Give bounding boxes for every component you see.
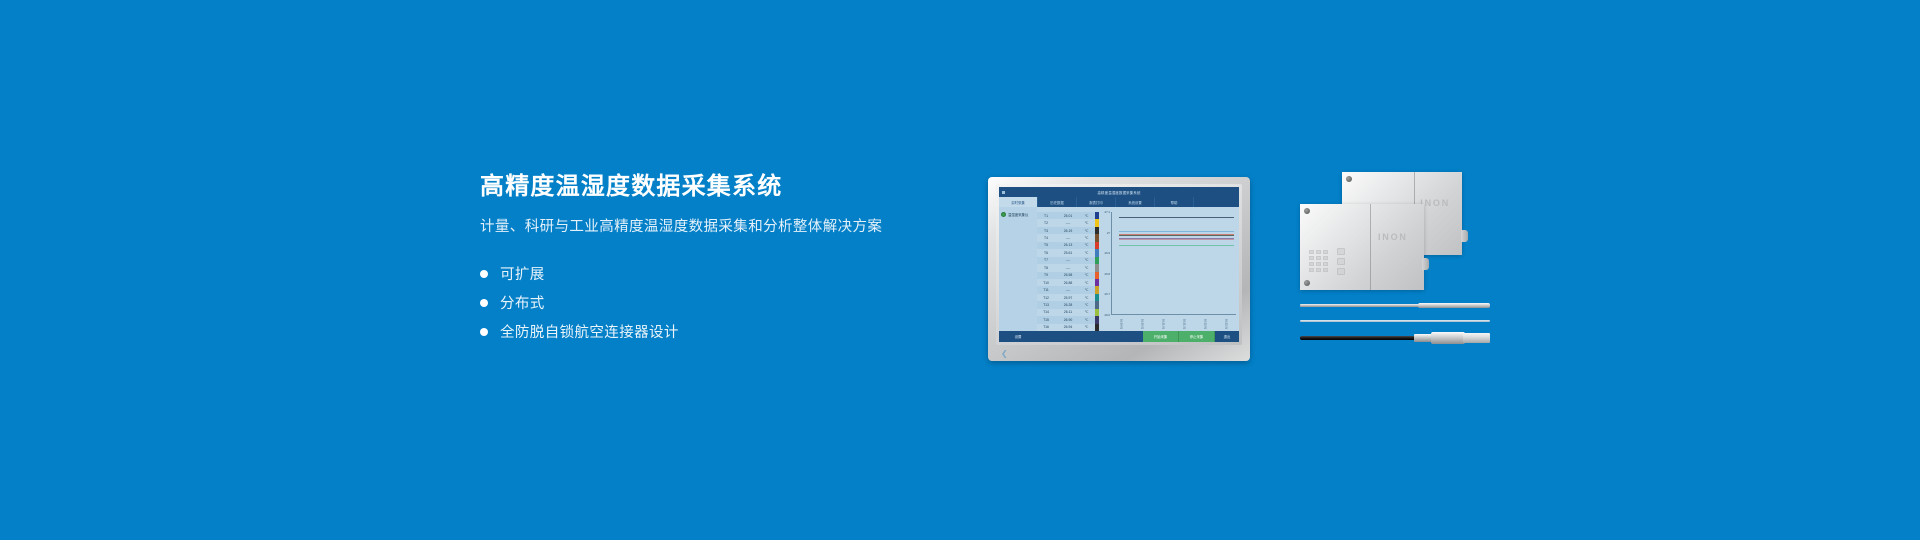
channel-table: T125.01℃T2----℃T326.19℃T4----℃T526.13℃T6… (1037, 207, 1095, 331)
channel-unit: ℃ (1081, 303, 1092, 307)
channel-name: T10 (1037, 281, 1055, 285)
chart-y-tick: 26.7 (1105, 292, 1110, 296)
channel-name: T13 (1037, 303, 1055, 307)
channel-name: T7 (1037, 258, 1055, 262)
app-bottombar: 设置 开始采集 停止采集 退出 (999, 331, 1239, 342)
channel-unit: ℃ (1081, 236, 1092, 240)
channel-value: 26.13 (1055, 243, 1081, 247)
table-row[interactable]: T1526.90℃ (1037, 316, 1095, 323)
channel-value: 26.19 (1055, 229, 1081, 233)
channel-name: T2 (1037, 221, 1055, 225)
channel-name: T6 (1037, 251, 1055, 255)
channel-value: 26.28 (1055, 303, 1081, 307)
list-item: 分布式 (480, 288, 950, 317)
channel-name: T9 (1037, 273, 1055, 277)
page-title: 高精度温湿度数据采集系统 (480, 172, 950, 202)
chart-series-line (1119, 245, 1233, 246)
table-row[interactable]: T2----℃ (1037, 219, 1095, 226)
channel-value: 25.61 (1055, 251, 1081, 255)
brand-logo: INON (1420, 198, 1450, 208)
channel-unit: ℃ (1081, 214, 1092, 218)
chart-x-tick: 16:21:01 (1162, 319, 1165, 329)
table-row[interactable]: T1426.11℃ (1037, 309, 1095, 316)
channel-unit: ℃ (1081, 325, 1092, 329)
channel-value: 26.90 (1055, 318, 1081, 322)
channel-value: 25.97 (1055, 296, 1081, 300)
table-row[interactable]: T4----℃ (1037, 234, 1095, 241)
channel-name: T4 (1037, 236, 1055, 240)
trend-chart: 27.12726.926.826.726.6 16:20:0116:20:311… (1099, 207, 1239, 331)
monitor-outer-bezel: 高精度温湿度数据采集系统 实时采集 历史数据 报表打印 系统设置 帮助 (988, 177, 1250, 361)
channel-name: T1 (1037, 214, 1055, 218)
bullet-dot-icon (480, 328, 488, 336)
app-body: 温湿度采集仪 T125.01℃T2----℃T326.19℃T4----℃T52… (999, 207, 1239, 331)
probe-thin-rod (1300, 320, 1490, 322)
chart-x-tick: 16:20:31 (1141, 319, 1144, 329)
table-row[interactable]: T8----℃ (1037, 264, 1095, 271)
hero-copy-block: 高精度温湿度数据采集系统 计量、科研与工业高精度温湿度数据采集和分析整体解决方案… (480, 172, 950, 346)
channel-unit: ℃ (1081, 273, 1092, 277)
sidebar-item-device[interactable]: 温湿度采集仪 (1001, 212, 1035, 217)
channel-value: 26.58 (1055, 273, 1081, 277)
chart-series-line (1119, 217, 1233, 218)
chart-y-tick: 27 (1107, 231, 1110, 235)
monitor-stand-icon: ❮ (1001, 350, 1011, 357)
list-item: 可扩展 (480, 259, 950, 288)
channel-unit: ℃ (1081, 318, 1092, 322)
probe-shaft (1300, 304, 1420, 306)
channel-name: T14 (1037, 310, 1055, 314)
chart-x-tick: 16:21:31 (1183, 319, 1186, 329)
feature-label: 可扩展 (500, 263, 545, 284)
chart-series-line (1119, 239, 1233, 240)
channel-unit: ℃ (1081, 221, 1092, 225)
channel-value: ---- (1055, 236, 1081, 240)
panel-seam (1370, 204, 1371, 290)
tab-report[interactable]: 报表打印 (1077, 197, 1116, 207)
channel-unit: ℃ (1081, 229, 1092, 233)
chart-x-tick: 16:20:01 (1120, 319, 1123, 329)
probe-ferrule (1414, 334, 1432, 342)
channel-value: 26.11 (1055, 310, 1081, 314)
monitor-inner-bezel: 高精度温湿度数据采集系统 实时采集 历史数据 报表打印 系统设置 帮助 (996, 184, 1242, 345)
probe-connector-head (1463, 333, 1490, 343)
start-acquisition-button[interactable]: 开始采集 (1143, 331, 1179, 342)
channel-unit: ℃ (1081, 243, 1092, 247)
stop-acquisition-button[interactable]: 停止采集 (1179, 331, 1215, 342)
device-label: 温湿度采集仪 (1008, 212, 1028, 217)
table-row[interactable]: T926.58℃ (1037, 272, 1095, 279)
feature-list: 可扩展 分布式 全防脱自锁航空连接器设计 (480, 259, 950, 346)
channel-name: T12 (1037, 296, 1055, 300)
table-row[interactable]: T526.13℃ (1037, 242, 1095, 249)
tab-history[interactable]: 历史数据 (1038, 197, 1077, 207)
app-window-title: 高精度温湿度数据采集系统 (999, 190, 1239, 195)
channel-value: 26.94 (1055, 325, 1081, 329)
device-online-icon (1001, 212, 1006, 217)
chart-series-line (1119, 231, 1233, 232)
channel-name: T16 (1037, 325, 1055, 329)
tab-help[interactable]: 帮助 (1155, 197, 1194, 207)
chart-y-tick: 26.6 (1105, 313, 1110, 317)
settings-button[interactable]: 设置 (999, 331, 1037, 342)
app-tabbar: 实时采集 历史数据 报表打印 系统设置 帮助 (999, 197, 1239, 207)
channel-name: T3 (1037, 229, 1055, 233)
table-row[interactable]: T11----℃ (1037, 286, 1095, 293)
channel-value: ---- (1055, 266, 1081, 270)
feature-label: 全防脱自锁航空连接器设计 (500, 321, 679, 342)
channel-unit: ℃ (1081, 266, 1092, 270)
channel-name: T11 (1037, 288, 1055, 292)
channel-unit: ℃ (1081, 258, 1092, 262)
exit-button[interactable]: 退出 (1215, 331, 1239, 342)
channel-value: 25.01 (1055, 214, 1081, 218)
bullet-dot-icon (480, 270, 488, 278)
probe-aviation-connector (1300, 332, 1490, 344)
hero-subtitle: 计量、科研与工业高精度温湿度数据采集和分析整体解决方案 (480, 217, 950, 237)
list-item: 全防脱自锁航空连接器设计 (480, 317, 950, 346)
chart-x-axis: 16:20:0116:20:3116:21:0116:21:3116:22:01… (1111, 315, 1236, 329)
chart-y-tick: 26.9 (1105, 251, 1110, 255)
probe-cable-wire (1300, 336, 1418, 340)
hardware-product-images: INON INON (1300, 172, 1495, 367)
feature-label: 分布式 (500, 292, 545, 313)
brand-logo: INON (1378, 232, 1408, 242)
device-tree-sidebar: 温湿度采集仪 (999, 207, 1037, 331)
channel-unit: ℃ (1081, 310, 1092, 314)
channel-name: T5 (1037, 243, 1055, 247)
promo-banner: 高精度温湿度数据采集系统 计量、科研与工业高精度温湿度数据采集和分析整体解决方案… (0, 0, 1920, 540)
table-row[interactable]: T625.61℃ (1037, 249, 1095, 256)
bottombar-spacer (1037, 331, 1143, 342)
table-row[interactable]: T7----℃ (1037, 257, 1095, 264)
tab-realtime[interactable]: 实时采集 (999, 197, 1038, 207)
screw-icon (1304, 280, 1310, 286)
channel-value: ---- (1055, 288, 1081, 292)
channel-name: T15 (1037, 318, 1055, 322)
chart-y-tick: 27.1 (1105, 210, 1110, 214)
channel-unit: ℃ (1081, 296, 1092, 300)
connector-icon (1422, 258, 1429, 270)
app-titlebar: 高精度温湿度数据采集系统 (999, 187, 1239, 197)
probe-connector-body (1431, 332, 1465, 344)
channel-unit: ℃ (1081, 281, 1092, 285)
tabbar-filler (1194, 197, 1239, 207)
channel-value: ---- (1055, 258, 1081, 262)
channel-unit: ℃ (1081, 288, 1092, 292)
table-row[interactable]: T125.01℃ (1037, 212, 1095, 219)
screw-icon (1346, 176, 1352, 182)
channel-unit: ℃ (1081, 251, 1092, 255)
channel-name: T8 (1037, 266, 1055, 270)
chart-plot-area (1111, 212, 1236, 315)
table-row[interactable]: T1326.28℃ (1037, 301, 1095, 308)
chart-y-axis: 27.12726.926.826.726.6 (1099, 212, 1111, 315)
connector-panel (1309, 250, 1369, 280)
chart-x-tick: 16:22:01 (1204, 319, 1207, 329)
monitor-product-image: 高精度温湿度数据采集系统 实时采集 历史数据 报表打印 系统设置 帮助 (988, 177, 1250, 361)
bullet-dot-icon (480, 299, 488, 307)
monitor-screen: 高精度温湿度数据采集系统 实时采集 历史数据 报表打印 系统设置 帮助 (999, 187, 1239, 342)
probe-metal (1300, 303, 1490, 308)
channel-value: 26.88 (1055, 281, 1081, 285)
channel-value: ---- (1055, 221, 1081, 225)
device-enclosure-front: INON (1300, 204, 1424, 290)
chart-y-tick: 26.8 (1105, 272, 1110, 276)
chart-series-line (1119, 235, 1233, 236)
connector-icon (1461, 230, 1468, 242)
table-row[interactable]: T1026.88℃ (1037, 279, 1095, 286)
table-row[interactable]: T1626.94℃ (1037, 324, 1095, 331)
chart-x-tick: 16:22:31 (1225, 319, 1228, 329)
tab-settings[interactable]: 系统设置 (1116, 197, 1155, 207)
table-row[interactable]: T326.19℃ (1037, 227, 1095, 234)
probe-tip (1418, 303, 1490, 308)
screw-icon (1304, 208, 1310, 214)
table-row[interactable]: T1225.97℃ (1037, 294, 1095, 301)
